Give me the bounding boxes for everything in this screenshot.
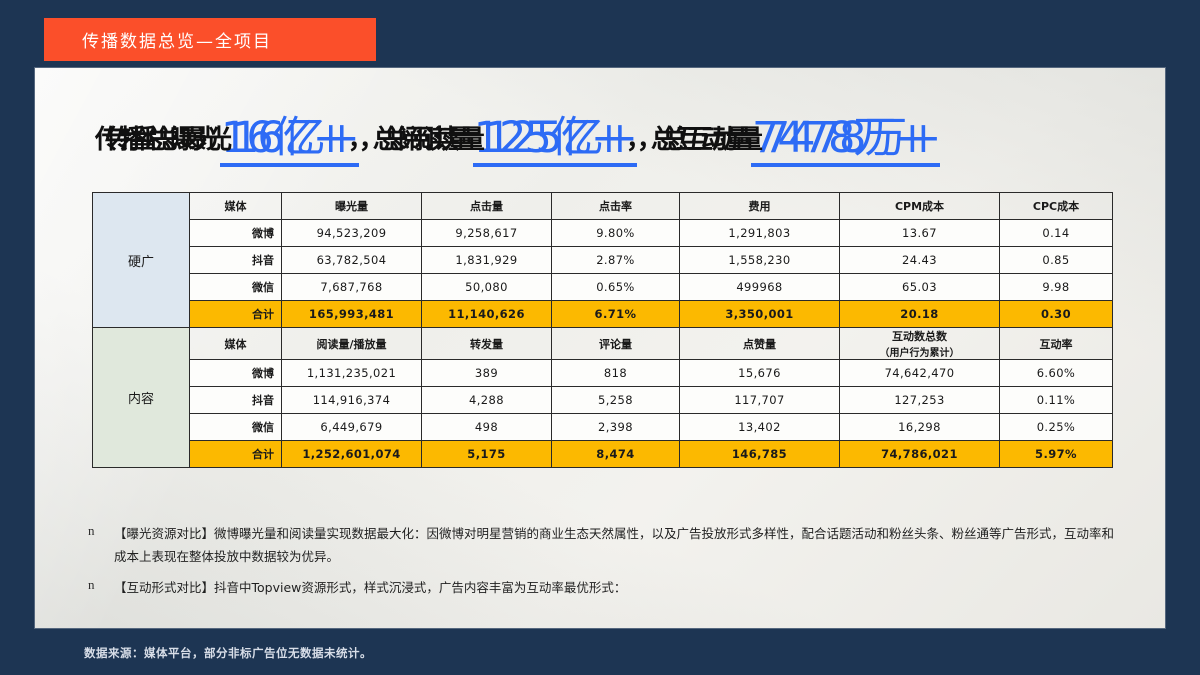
cell-value: 8,474: [552, 441, 680, 468]
cell-value: 1,558,230: [680, 247, 840, 274]
headline-value-2: 125亿+: [484, 113, 637, 167]
cell-value: 0.65%: [552, 274, 680, 301]
cell-value: 6.71%: [552, 301, 680, 328]
table-row: 抖音63,782,5041,831,9292.87%1,558,23024.43…: [93, 247, 1113, 274]
table-total-row: 合计165,993,48111,140,6266.71%3,350,00120.…: [93, 301, 1113, 328]
insight-bullet-list: n【曝光资源对比】微博曝光量和阅读量实现数据最大化：因微博对明星营销的商业生态天…: [88, 522, 1118, 607]
headline-label-1: 传播总曝光: [106, 125, 231, 155]
cell-value: 117,707: [680, 387, 840, 414]
column-header-媒体: 媒体: [190, 193, 282, 220]
column-header-互动率: 互动率: [1000, 328, 1113, 360]
headline-stats: 传播总曝光16亿+，总阅读量125亿+，总互动量7478万+ 传播总曝光16亿+…: [95, 108, 1095, 166]
cell-value: 6.60%: [1000, 360, 1113, 387]
table-row: 抖音114,916,3744,2885,258117,707127,2530.1…: [93, 387, 1113, 414]
cell-value: 0.14: [1000, 220, 1113, 247]
cell-value: 1,831,929: [422, 247, 552, 274]
cell-value: 1,131,235,021: [282, 360, 422, 387]
cell-value: 24.43: [840, 247, 1000, 274]
cell-value: 74,786,021: [840, 441, 1000, 468]
bullet-marker-icon: n: [88, 576, 114, 599]
cell-value: 15,676: [680, 360, 840, 387]
cell-value: 9,258,617: [422, 220, 552, 247]
cell-media: 合计: [190, 301, 282, 328]
cell-value: 389: [422, 360, 552, 387]
slide-title-banner: 传播数据总览—全项目: [44, 18, 376, 61]
cell-value: 5,258: [552, 387, 680, 414]
column-header-CPC成本: CPC成本: [1000, 193, 1113, 220]
column-header-阅读量/播放量: 阅读量/播放量: [282, 328, 422, 360]
column-header-评论量: 评论量: [552, 328, 680, 360]
cell-value: 2.87%: [552, 247, 680, 274]
cell-value: 4,288: [422, 387, 552, 414]
table-row: 微信6,449,6794982,39813,40216,2980.25%: [93, 414, 1113, 441]
data-table-wrapper: 硬广媒体曝光量点击量点击率费用CPM成本CPC成本微博94,523,2099,2…: [92, 192, 1112, 468]
cell-value: 499968: [680, 274, 840, 301]
cell-value: 146,785: [680, 441, 840, 468]
table-total-row: 合计1,252,601,0745,1758,474146,78574,786,0…: [93, 441, 1113, 468]
column-header-互动数总数: 互动数总数（用户行为累计）: [840, 328, 1000, 360]
table-row: 微博94,523,2099,258,6179.80%1,291,80313.67…: [93, 220, 1113, 247]
headline-label-2: 总阅读量: [384, 125, 484, 155]
column-header-媒体: 媒体: [190, 328, 282, 360]
section-label-内容: 内容: [93, 328, 190, 468]
column-header-点赞量: 点赞量: [680, 328, 840, 360]
cell-value: 9.98: [1000, 274, 1113, 301]
cell-media: 抖音: [190, 247, 282, 274]
column-header-点击量: 点击量: [422, 193, 552, 220]
column-header-费用: 费用: [680, 193, 840, 220]
table-row: 微信7,687,76850,0800.65%49996865.039.98: [93, 274, 1113, 301]
column-header-转发量: 转发量: [422, 328, 552, 360]
cell-value: 498: [422, 414, 552, 441]
cell-value: 1,252,601,074: [282, 441, 422, 468]
cell-value: 9.80%: [552, 220, 680, 247]
cell-value: 13,402: [680, 414, 840, 441]
insight-bullet: n【互动形式对比】抖音中Topview资源形式，样式沉浸式，广告内容丰富为互动率…: [88, 576, 1118, 599]
table-row: 微博1,131,235,02138981815,67674,642,4706.6…: [93, 360, 1113, 387]
headline-value-1: 16亿+: [231, 113, 359, 167]
cell-value: 2,398: [552, 414, 680, 441]
cell-media: 抖音: [190, 387, 282, 414]
headline-main-layer: 传播总曝光16亿+，总阅读量125亿+，总互动量7478万+: [106, 108, 940, 166]
section-label-硬广: 硬广: [93, 193, 190, 328]
table-body: 硬广媒体曝光量点击量点击率费用CPM成本CPC成本微博94,523,2099,2…: [93, 193, 1113, 468]
cell-value: 3,350,001: [680, 301, 840, 328]
column-header-点击率: 点击率: [552, 193, 680, 220]
page-title: 传播数据总览—全项目: [44, 27, 272, 52]
cell-value: 50,080: [422, 274, 552, 301]
bullet-marker-icon: n: [88, 522, 114, 568]
bullet-text: 【互动形式对比】抖音中Topview资源形式，样式沉浸式，广告内容丰富为互动率最…: [114, 576, 626, 599]
cell-value: 127,253: [840, 387, 1000, 414]
campaign-data-table: 硬广媒体曝光量点击量点击率费用CPM成本CPC成本微博94,523,2099,2…: [92, 192, 1113, 468]
cell-value: 11,140,626: [422, 301, 552, 328]
cell-value: 74,642,470: [840, 360, 1000, 387]
cell-value: 5,175: [422, 441, 552, 468]
cell-media: 合计: [190, 441, 282, 468]
cell-media: 微信: [190, 274, 282, 301]
cell-value: 63,782,504: [282, 247, 422, 274]
headline-sep-2: ，: [637, 125, 662, 155]
cell-value: 20.18: [840, 301, 1000, 328]
cell-value: 7,687,768: [282, 274, 422, 301]
headline-label-3: 总互动量: [662, 125, 762, 155]
cell-value: 818: [552, 360, 680, 387]
column-header-曝光量: 曝光量: [282, 193, 422, 220]
bullet-text: 【曝光资源对比】微博曝光量和阅读量实现数据最大化：因微博对明星营销的商业生态天然…: [114, 522, 1118, 568]
cell-media: 微博: [190, 220, 282, 247]
headline-value-3: 7478万+: [762, 113, 940, 167]
cell-value: 16,298: [840, 414, 1000, 441]
table-header-row: 内容媒体阅读量/播放量转发量评论量点赞量互动数总数（用户行为累计）互动率: [93, 328, 1113, 360]
cell-value: 165,993,481: [282, 301, 422, 328]
table-header-row: 硬广媒体曝光量点击量点击率费用CPM成本CPC成本: [93, 193, 1113, 220]
cell-value: 13.67: [840, 220, 1000, 247]
cell-value: 0.11%: [1000, 387, 1113, 414]
cell-value: 65.03: [840, 274, 1000, 301]
cell-value: 0.25%: [1000, 414, 1113, 441]
column-header-CPM成本: CPM成本: [840, 193, 1000, 220]
cell-value: 1,291,803: [680, 220, 840, 247]
cell-value: 94,523,209: [282, 220, 422, 247]
cell-value: 0.30: [1000, 301, 1113, 328]
cell-value: 6,449,679: [282, 414, 422, 441]
data-source-footer: 数据来源：媒体平台，部分非标广告位无数据未统计。: [84, 645, 372, 661]
headline-sep-1: ，: [359, 125, 384, 155]
cell-value: 0.85: [1000, 247, 1113, 274]
cell-media: 微博: [190, 360, 282, 387]
cell-value: 5.97%: [1000, 441, 1113, 468]
insight-bullet: n【曝光资源对比】微博曝光量和阅读量实现数据最大化：因微博对明星营销的商业生态天…: [88, 522, 1118, 568]
cell-value: 114,916,374: [282, 387, 422, 414]
cell-media: 微信: [190, 414, 282, 441]
